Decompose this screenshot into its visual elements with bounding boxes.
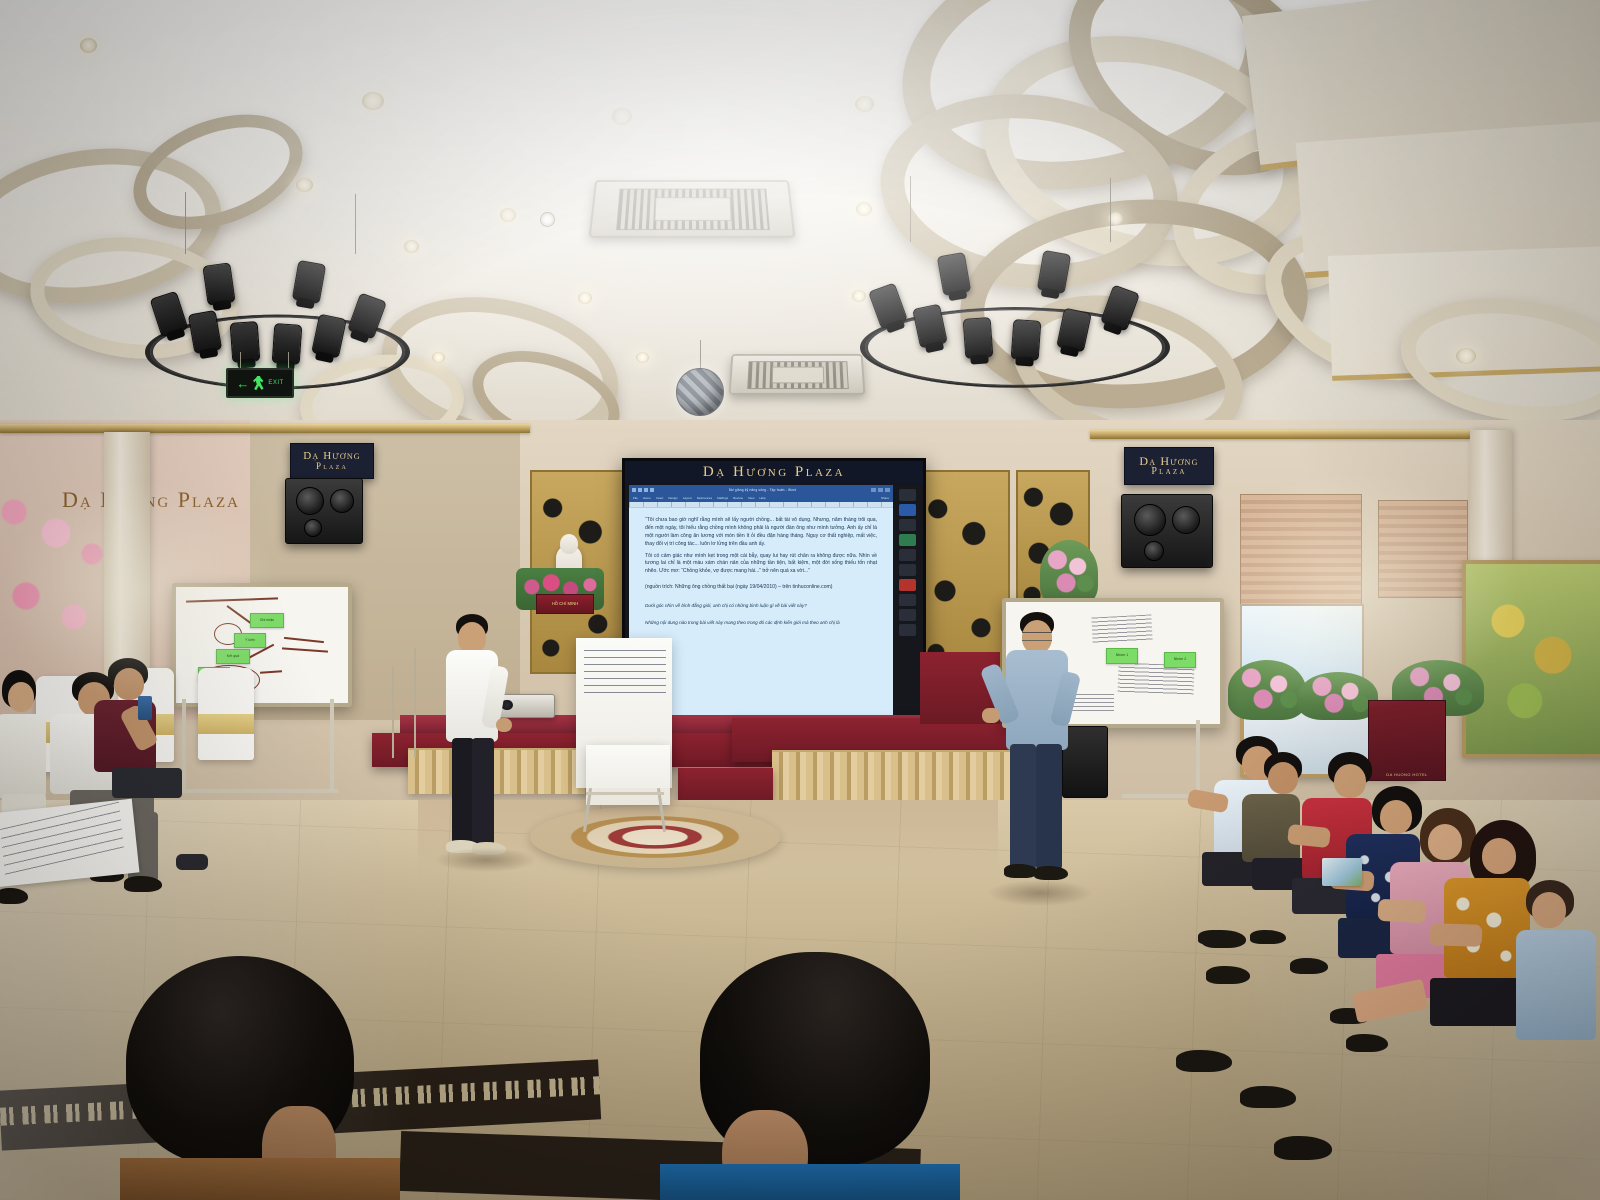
ribbon-tab-design[interactable]: Design bbox=[668, 496, 677, 500]
recessed-downlight bbox=[578, 292, 592, 304]
close-icon[interactable] bbox=[885, 488, 890, 492]
recessed-downlight bbox=[362, 92, 384, 110]
app-icon[interactable] bbox=[899, 579, 916, 591]
ribbon-tab-mailings[interactable]: Mailings bbox=[717, 496, 728, 500]
lighting-truss-right bbox=[860, 240, 1160, 360]
microphone-stand bbox=[414, 648, 416, 758]
sticky-note-text: Kết quả bbox=[227, 655, 239, 659]
screen-venue-banner: Dạ Hương Plaza bbox=[625, 461, 923, 483]
torso bbox=[1516, 930, 1596, 1040]
recessed-downlight bbox=[855, 96, 874, 112]
air-conditioner-cassette bbox=[589, 180, 796, 238]
banquet-hall-photo: ← EXIT Dạ Hương Plaza Dạ Hương Plaza Dạ … bbox=[0, 0, 1600, 1200]
flower-vase-right-wall bbox=[1228, 660, 1306, 720]
ribbon-tab-help[interactable]: Help bbox=[759, 496, 765, 500]
exit-sign: ← EXIT bbox=[226, 368, 294, 398]
shoe bbox=[1240, 1086, 1296, 1108]
sticky-note[interactable]: Nhóm 2 bbox=[1164, 652, 1196, 668]
redo-icon[interactable] bbox=[644, 488, 648, 492]
presenter-leg bbox=[452, 738, 474, 846]
recessed-downlight bbox=[636, 352, 649, 363]
recessed-downlight bbox=[856, 202, 872, 216]
presenter-hand bbox=[496, 718, 512, 732]
foreground-person-right bbox=[680, 952, 940, 1200]
recessed-downlight bbox=[404, 240, 419, 253]
sticky-note-text: Nhóm 2 bbox=[1174, 658, 1187, 662]
app-icon[interactable] bbox=[899, 624, 916, 636]
wall-painting bbox=[1462, 560, 1600, 758]
facilitator-shoe bbox=[1004, 864, 1038, 878]
arm bbox=[1287, 824, 1331, 848]
shoe bbox=[1250, 930, 1286, 944]
recessed-downlight bbox=[500, 208, 516, 222]
wall-gold-trim bbox=[0, 424, 530, 433]
maximize-icon[interactable] bbox=[878, 488, 883, 492]
window-controls[interactable] bbox=[871, 488, 890, 492]
stage-spotlight bbox=[202, 262, 235, 306]
disco-ball bbox=[676, 368, 724, 416]
audience-member-right-7 bbox=[1516, 880, 1600, 1120]
pa-speaker-right bbox=[1121, 494, 1213, 568]
quick-access-toolbar[interactable] bbox=[632, 488, 654, 492]
arm bbox=[1377, 899, 1426, 923]
doc-question-2: Những nội dung nào trong bài viết này ma… bbox=[645, 619, 877, 626]
sticky-note[interactable]: Kết quả bbox=[216, 649, 250, 664]
recessed-downlight bbox=[612, 108, 632, 125]
sticky-note[interactable]: Ghi nhận bbox=[250, 613, 284, 628]
facilitator-leg bbox=[1010, 744, 1036, 870]
word-titlebar: Bài giảng kỹ năng sống - Tập huấn - Word bbox=[629, 485, 893, 494]
bust-plaque: HỒ CHÍ MINH bbox=[536, 594, 594, 614]
head bbox=[1482, 838, 1516, 874]
stage-spotlight bbox=[963, 317, 994, 359]
exit-arrow-icon: ← bbox=[236, 377, 249, 390]
shoe bbox=[0, 888, 28, 904]
glasses-icon bbox=[1022, 632, 1052, 641]
undo-icon[interactable] bbox=[638, 488, 642, 492]
booklet[interactable] bbox=[1322, 858, 1362, 886]
facilitator-hand-left bbox=[982, 708, 1000, 723]
stage-spotlight bbox=[937, 252, 972, 296]
app-icon[interactable] bbox=[899, 594, 916, 606]
ribbon-tab-review[interactable]: Review bbox=[733, 496, 743, 500]
microphone-stand bbox=[392, 666, 394, 758]
stage-spotlight bbox=[230, 321, 261, 363]
whiteboard-leg bbox=[330, 699, 334, 791]
facilitator-shoe bbox=[1034, 866, 1068, 880]
venue-signboard-right: Dạ Hương Plaza bbox=[1124, 447, 1214, 485]
share-button[interactable]: Share bbox=[881, 496, 889, 500]
facilitator-blue-shirt bbox=[992, 612, 1084, 894]
bag-on-floor bbox=[176, 854, 208, 870]
stage-spotlight bbox=[292, 260, 327, 304]
head bbox=[1532, 892, 1566, 928]
presenter-white-shirt bbox=[440, 614, 516, 858]
stage-spotlight bbox=[868, 282, 908, 329]
ribbon-tab-file[interactable]: File bbox=[633, 496, 638, 500]
shoe bbox=[1206, 966, 1250, 984]
flower-vase-podium bbox=[1298, 672, 1378, 720]
minimize-icon[interactable] bbox=[871, 488, 876, 492]
word-window-title: Bài giảng kỹ năng sống - Tập huấn - Word bbox=[729, 488, 797, 492]
app-icon[interactable] bbox=[899, 534, 916, 546]
handout-handwriting bbox=[0, 801, 124, 881]
presenter-leg bbox=[472, 738, 494, 846]
save-icon[interactable] bbox=[632, 488, 636, 492]
shoe bbox=[1202, 930, 1246, 948]
stage-spotlight bbox=[1037, 250, 1072, 294]
foreground-person-right-shoulders bbox=[660, 1164, 960, 1200]
sticky-note[interactable]: Ý kiến bbox=[234, 633, 266, 648]
shoe bbox=[1346, 1034, 1388, 1052]
disco-ball-wire bbox=[700, 340, 701, 370]
screen-sidebar-icons[interactable] bbox=[894, 485, 920, 719]
exit-label: EXIT bbox=[268, 380, 283, 386]
app-icon[interactable] bbox=[899, 519, 916, 531]
app-icon[interactable] bbox=[899, 549, 916, 561]
smoke-detector-icon bbox=[540, 212, 555, 227]
shoe bbox=[1176, 1050, 1232, 1072]
app-icon[interactable] bbox=[899, 489, 916, 501]
ribbon-tab-insert[interactable]: Insert bbox=[656, 496, 664, 500]
stage-spotlight bbox=[188, 310, 223, 354]
stage-spotlight bbox=[150, 291, 189, 338]
word-ribbon-tabs[interactable]: File Home Insert Design Layout Reference… bbox=[629, 494, 893, 502]
flipchart-handwriting bbox=[584, 650, 667, 698]
shoe bbox=[1274, 1136, 1332, 1160]
app-icon[interactable] bbox=[899, 564, 916, 576]
doc-paragraph-2: Tôi có cảm giác như mình kẹt trong một c… bbox=[645, 553, 877, 577]
smartphone-icon bbox=[138, 696, 152, 720]
sticky-note-text: Ý kiến bbox=[245, 639, 255, 643]
recessed-downlight bbox=[80, 38, 97, 53]
app-icon[interactable] bbox=[899, 609, 916, 621]
sticky-note[interactable]: Nhóm 1 bbox=[1106, 648, 1138, 664]
recessed-downlight bbox=[296, 178, 313, 192]
recessed-downlight bbox=[432, 352, 445, 363]
doc-paragraph-1: “Tôi chưa bao giờ nghĩ rằng mình sẽ lấy … bbox=[645, 517, 877, 549]
ribbon-tab-layout[interactable]: Layout bbox=[683, 496, 692, 500]
lighting-truss-left bbox=[145, 252, 400, 362]
sakura-decoration bbox=[0, 470, 110, 680]
doc-source-line: (nguồn trích: Những ông chồng thất bại (… bbox=[645, 584, 877, 592]
screen-banner-text: Dạ Hương Plaza bbox=[703, 464, 845, 481]
sticky-note-text: Nhóm 1 bbox=[1116, 654, 1129, 658]
stage-skirt-right bbox=[772, 750, 1010, 800]
sticky-note-text: Ghi nhận bbox=[260, 619, 275, 623]
venue-name-line2: Plaza bbox=[316, 462, 348, 471]
presenter-shoe bbox=[472, 842, 506, 855]
stage-spotlight bbox=[1011, 319, 1042, 361]
venue-name-line2: Plaza bbox=[1151, 467, 1186, 477]
wall-gold-trim bbox=[1090, 430, 1470, 439]
chair bbox=[198, 668, 254, 760]
ceiling: ← EXIT bbox=[0, 0, 1600, 470]
air-conditioner-cassette bbox=[729, 354, 866, 395]
ribbon-tab-references[interactable]: References bbox=[697, 496, 712, 500]
bust-plaque-text: HỒ CHÍ MINH bbox=[552, 601, 579, 606]
doc-question-1: Dưới góc nhìn về bình đẳng giới, anh chị… bbox=[645, 602, 877, 609]
facilitator-leg bbox=[1036, 744, 1062, 870]
foreground-person-left-shoulders bbox=[120, 1158, 400, 1200]
venue-signboard-left: Dạ Hương Plaza bbox=[290, 443, 374, 479]
app-icon[interactable] bbox=[899, 504, 916, 516]
ribbon-tab-view[interactable]: View bbox=[748, 496, 754, 500]
window-blind bbox=[1240, 494, 1362, 606]
window-blind bbox=[1378, 500, 1468, 598]
leg bbox=[112, 768, 182, 798]
pa-speaker-left bbox=[285, 478, 363, 544]
shoe bbox=[1290, 958, 1328, 974]
flower-vase-right-stage bbox=[1040, 540, 1098, 606]
stage-step-front bbox=[678, 768, 773, 802]
running-man-icon bbox=[252, 376, 265, 391]
arm bbox=[1430, 923, 1483, 947]
ribbon-tab-home[interactable]: Home bbox=[643, 496, 651, 500]
handout-sheet[interactable] bbox=[0, 799, 139, 888]
flipchart-easel bbox=[580, 788, 670, 834]
recessed-downlight bbox=[1456, 348, 1476, 364]
chevron-down-icon[interactable] bbox=[650, 488, 654, 492]
shoe bbox=[124, 876, 162, 892]
whiteboard-base bbox=[176, 789, 338, 793]
stage-spotlight bbox=[272, 323, 303, 365]
